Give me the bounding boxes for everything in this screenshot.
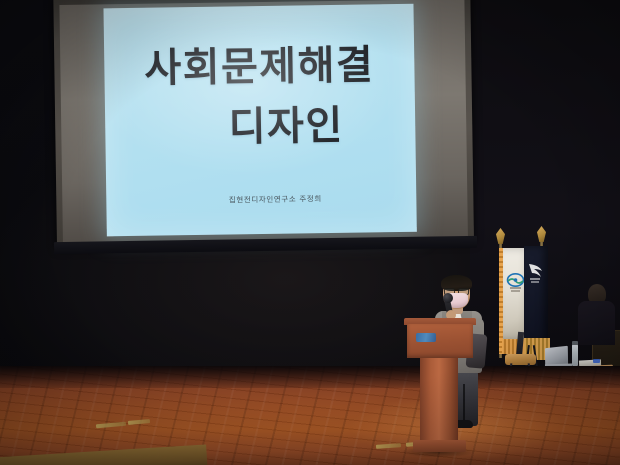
podium <box>404 318 476 453</box>
podium-emblem-icon <box>416 333 436 342</box>
seated-person <box>572 284 618 346</box>
seated-person-body <box>578 301 615 345</box>
presentation-photo: 사회문제해결 디자인 집현전디자인연구소 주정희 <box>0 0 620 465</box>
podium-base <box>413 440 466 452</box>
projection-screen: 사회문제해결 디자인 집현전디자인연구소 주정희 <box>53 0 474 247</box>
flag-finial-right-icon <box>537 226 546 242</box>
projected-slide: 사회문제해결 디자인 집현전디자인연구소 주정희 <box>103 4 416 237</box>
stage-floor <box>0 366 620 465</box>
slide-title-line-1: 사회문제해결 <box>104 42 415 94</box>
microphone-head-icon <box>443 293 453 303</box>
water-bottle <box>572 344 578 366</box>
floor-shadow-band <box>0 366 620 388</box>
device-indicator-light <box>593 359 600 363</box>
water-bottle-cap <box>572 341 578 345</box>
institution-flag-emblem-icon <box>506 273 525 293</box>
navy-flag-emblem-icon <box>527 260 545 286</box>
podium-column <box>420 357 458 443</box>
slide-credit: 집현전디자인연구소 주정희 <box>106 192 416 208</box>
slide-title-line-2: 디자인 <box>105 92 416 155</box>
flag-finial-left-icon <box>496 228 505 244</box>
